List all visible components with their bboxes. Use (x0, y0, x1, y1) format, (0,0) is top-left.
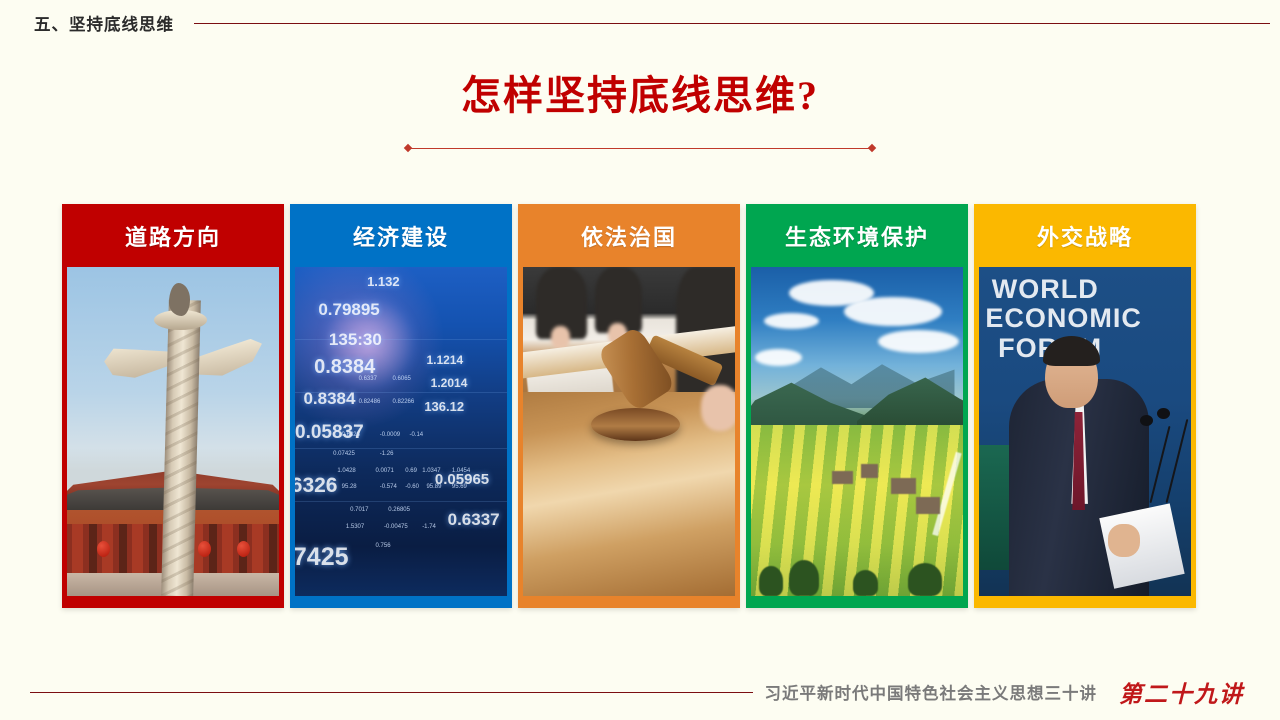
village-house-shape (916, 497, 939, 513)
scanline (295, 448, 507, 449)
tree-shape (759, 566, 782, 596)
title-block: 怎样坚持底线思维? (0, 74, 1280, 118)
microphone-stem-icon (1166, 419, 1189, 502)
title-decorative-divider (405, 142, 875, 154)
tree-shape (789, 560, 819, 596)
data-number: 136.12 (424, 399, 464, 414)
data-number: 95.28 (342, 484, 357, 490)
data-number: 0.26805 (388, 507, 410, 513)
data-number: -1.74 (422, 524, 436, 530)
section-label: 五、坚持底线思维 (34, 11, 174, 35)
village-house-shape (861, 464, 878, 477)
green-side-panel-shape (979, 445, 1011, 570)
card-economic-construction[interactable]: 经济建设 1.132 0.79895 135:30 0.8384 0.8384 … (290, 204, 512, 608)
world-economic-forum-speech-photo: WORLD ECONOMIC FORUM TO SE D (979, 267, 1191, 596)
card-rule-of-law[interactable]: 依法治国 (518, 204, 740, 608)
data-number: 0.8384 (303, 389, 355, 409)
data-number: 1.1214 (426, 353, 463, 367)
data-number: 0.79895 (318, 300, 379, 320)
page-title: 怎样坚持底线思维? (0, 74, 1280, 118)
tree-shape (853, 570, 878, 596)
card-image-frame-road-direction (62, 267, 284, 608)
card-ecological-protection[interactable]: 生态环境保护 (746, 204, 968, 608)
data-number: 0.6337 (448, 510, 500, 530)
data-number: 0.6328 (342, 432, 360, 438)
speaker-hand-shape (1108, 524, 1140, 557)
cloud-shape (878, 330, 959, 353)
village-house-shape (891, 478, 916, 494)
data-number: -1.26 (380, 451, 394, 457)
data-number: 0.7017 (350, 507, 368, 513)
footer-divider-line (30, 692, 753, 693)
divider-line (411, 148, 869, 149)
card-title-rule-of-law: 依法治国 (518, 204, 740, 267)
data-number: 1.2014 (431, 376, 468, 390)
red-lantern-icon (97, 541, 110, 557)
data-number: -0.574 (380, 484, 397, 490)
card-diplomatic-strategy[interactable]: 外交战略 WORLD ECONOMIC FORUM TO SE D (974, 204, 1196, 608)
data-number: 6326 (295, 474, 337, 498)
backdrop-text-world: WORLD (992, 274, 1099, 305)
diamond-left-icon (404, 144, 412, 152)
scanline (295, 339, 507, 340)
data-number: 95.69 (452, 484, 467, 490)
data-number: 1.0347 (422, 468, 440, 474)
microphone-head-icon (1157, 408, 1170, 419)
card-image-frame-economic-construction: 1.132 0.79895 135:30 0.8384 0.8384 0.058… (290, 267, 512, 608)
cloud-wing-left-shape (101, 339, 173, 383)
data-number: -0.14 (409, 432, 423, 438)
microphone-head-icon (1140, 415, 1153, 426)
data-number: 0.0071 (376, 468, 394, 474)
data-number: 135:30 (329, 330, 382, 350)
card-road-direction[interactable]: 道路方向 (62, 204, 284, 608)
backdrop-text-economic: ECONOMIC (985, 303, 1142, 334)
data-number: 1.132 (367, 274, 400, 289)
rapeseed-valley-landscape-photo (751, 267, 963, 596)
data-number: 0.07425 (333, 451, 355, 457)
cloud-shape (764, 313, 819, 329)
data-number: 1.0454 (452, 468, 470, 474)
financial-data-board-photo: 1.132 0.79895 135:30 0.8384 0.8384 0.058… (295, 267, 507, 596)
slide-footer: 习近平新时代中国特色社会主义思想三十讲 第二十九讲 (0, 664, 1280, 720)
judge-gavel-courtroom-photo (523, 267, 735, 596)
cloud-shape (844, 297, 942, 327)
huabiao-pillar-tiananmen-photo (67, 267, 279, 596)
data-number: 0.6337 (359, 376, 377, 382)
tree-shape (908, 563, 942, 596)
data-number: 1.5307 (346, 524, 364, 530)
header-divider-line (194, 23, 1270, 24)
card-image-frame-rule-of-law (518, 267, 740, 608)
data-number: 0.756 (376, 543, 391, 549)
card-row: 道路方向 经济建设 (62, 204, 1196, 608)
data-number: 0.6065 (393, 376, 411, 382)
village-house-shape (832, 471, 853, 484)
data-number: 0.82266 (393, 399, 415, 405)
data-number: -0.0009 (380, 432, 400, 438)
diamond-right-icon (868, 144, 876, 152)
data-number: 1.0428 (337, 468, 355, 474)
data-number: 0.82486 (359, 399, 381, 405)
card-title-diplomatic-strategy: 外交战略 (974, 204, 1196, 267)
scanline (295, 501, 507, 502)
data-number: 7425 (295, 543, 349, 572)
data-number: -0.60 (405, 484, 419, 490)
data-number: 0.69 (405, 468, 417, 474)
card-title-road-direction: 道路方向 (62, 204, 284, 267)
huabiao-beast-shape (169, 283, 190, 316)
cloud-shape (755, 349, 802, 365)
red-lantern-icon (237, 541, 250, 557)
red-lantern-icon (198, 541, 211, 557)
card-image-frame-diplomatic-strategy: WORLD ECONOMIC FORUM TO SE D (974, 267, 1196, 608)
data-number: 95.89 (426, 484, 441, 490)
judge-hand-shape (701, 385, 735, 431)
card-image-frame-ecological-protection (746, 267, 968, 608)
footer-series-title: 习近平新时代中国特色社会主义思想三十讲 (765, 680, 1098, 704)
data-number: -0.00475 (384, 524, 408, 530)
card-title-ecological-protection: 生态环境保护 (746, 204, 968, 267)
card-title-economic-construction: 经济建设 (290, 204, 512, 267)
footer-lecture-number: 第二十九讲 (1119, 675, 1244, 709)
slide-header: 五、坚持底线思维 (0, 0, 1280, 46)
